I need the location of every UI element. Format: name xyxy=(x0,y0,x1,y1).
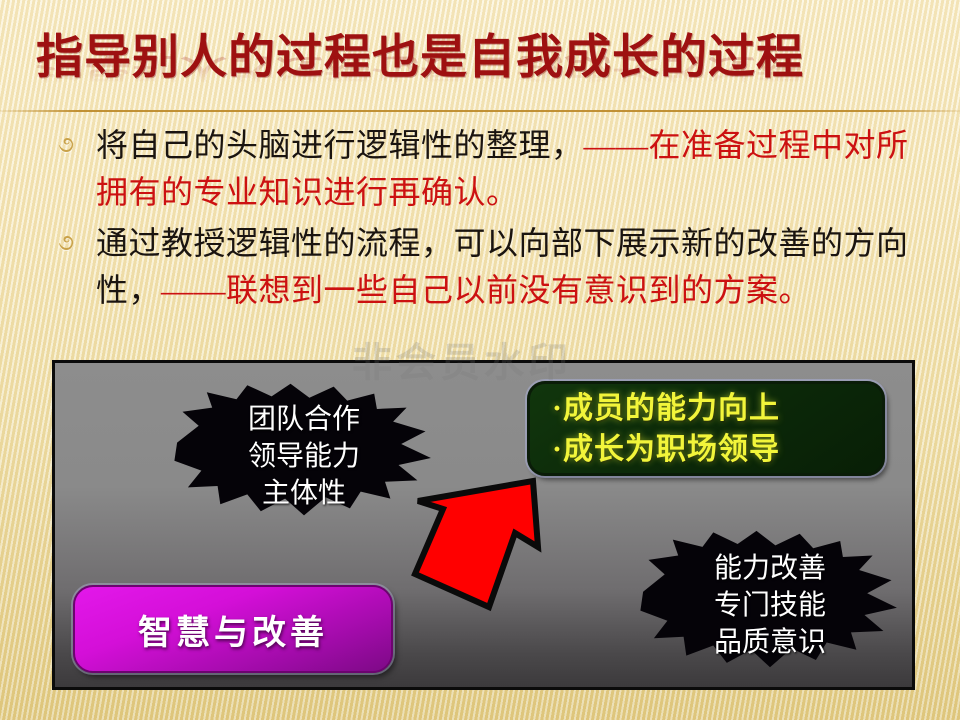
presentation-slide: 指导别人的过程也是自我成长的过程 指导别人的过程也是自我成长的过程 ૭ 将自己的… xyxy=(0,0,960,720)
ornament-bullet-icon: ૭ xyxy=(54,220,96,266)
bullet-2-red-segment: ——联想到一些自己以前没有意识到的方案。 xyxy=(161,272,811,308)
starburst-shape-right xyxy=(635,528,905,673)
title-divider xyxy=(0,110,960,112)
red-arrow-icon xyxy=(385,475,550,620)
magenta-label-box: 智慧与改善 xyxy=(73,585,393,673)
list-item: ૭ 通过教授逻辑性的流程，可以向部下展示新的改善的方向性，——联想到一些自己以前… xyxy=(54,220,910,314)
list-item-text: 将自己的头脑进行逻辑性的整理，——在准备过程中对所拥有的专业知识进行再确认。 xyxy=(96,122,910,216)
list-item-text: 通过教授逻辑性的流程，可以向部下展示新的改善的方向性，——联想到一些自己以前没有… xyxy=(96,220,910,314)
diagram-panel: 团队合作 领导能力 主体性 ·成员的能力向上 ·成长为职场领导 智慧与改善 能力… xyxy=(52,360,915,690)
list-item: ૭ 将自己的头脑进行逻辑性的整理，——在准备过程中对所拥有的专业知识进行再确认。 xyxy=(54,122,910,216)
bullet-1-black-segment: 将自己的头脑进行逻辑性的整理， xyxy=(96,127,584,163)
green-box-line-2: ·成长为职场领导 xyxy=(552,429,882,470)
bullet-list: ૭ 将自己的头脑进行逻辑性的整理，——在准备过程中对所拥有的专业知识进行再确认。… xyxy=(54,122,910,318)
ornament-bullet-icon: ૭ xyxy=(54,122,96,168)
green-box-line-1: ·成员的能力向上 xyxy=(552,388,882,429)
magenta-box-label: 智慧与改善 xyxy=(138,605,328,654)
green-outcome-box: ·成员的能力向上 ·成长为职场领导 xyxy=(527,381,885,476)
slide-title-block: 指导别人的过程也是自我成长的过程 指导别人的过程也是自我成长的过程 xyxy=(0,30,960,112)
page-title: 指导别人的过程也是自我成长的过程 xyxy=(36,30,804,86)
